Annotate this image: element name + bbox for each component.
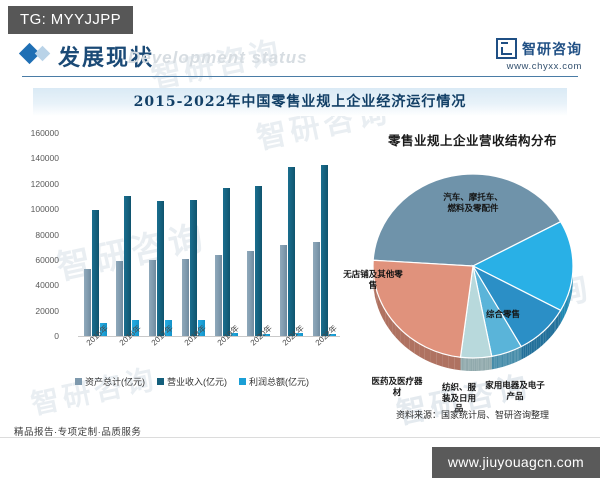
pie-slice-label: 综合零售 [472, 309, 534, 320]
pie-slice-side [515, 349, 516, 363]
bar-group [84, 133, 107, 336]
y-tick-label: 60000 [1, 255, 59, 265]
pie-slice-side [503, 353, 504, 366]
pie-slice-side [512, 350, 513, 363]
pie-slice-label: 医药及医疗器材 [368, 376, 426, 397]
pie-slice-side [484, 357, 485, 370]
brand-name: 智研咨询 [522, 39, 582, 59]
pie-slice-side [474, 358, 475, 371]
pie-slice-side [497, 355, 498, 368]
overlay-tag: TG: MYYJJPP [8, 6, 133, 34]
pie-slice-side [477, 358, 478, 371]
pie-slice-side [472, 358, 473, 371]
legend-item: 资产总计(亿元) [75, 375, 145, 388]
bar-group [182, 133, 205, 336]
pie-chart: 零售业规上企业营收结构分布 汽车、摩托车、燃料及零配件综合零售家用电器及电子产品… [345, 130, 600, 405]
pie-chart-title: 零售业规上企业营收结构分布 [345, 130, 600, 149]
pie-slice-side [525, 343, 527, 357]
pie-slice-side [523, 344, 525, 358]
pie-slice-side [493, 356, 494, 369]
bar-group [313, 133, 336, 336]
pie-slice-side [464, 358, 465, 371]
brand-url: www.chyxx.com [496, 61, 582, 72]
source-note: 资料来源：国家统计局、智研咨询整理 [345, 408, 600, 421]
pie-slice-side [442, 353, 448, 368]
pie-slice-side [518, 348, 519, 362]
page-header: 发展现状 Development status 智研咨询 www.chyxx.c… [0, 36, 600, 80]
bar [190, 200, 197, 336]
bar [149, 260, 156, 336]
pie-slice-side [520, 347, 521, 361]
pie-slice-side [468, 358, 469, 371]
pie-slice-side [485, 357, 486, 370]
pie-slice-side [539, 334, 541, 348]
legend-label: 营业收入(亿元) [167, 375, 227, 388]
pie-slice-side [489, 357, 490, 370]
pie-slice-label: 无店铺及其他零售 [342, 269, 404, 290]
bar [124, 196, 131, 336]
pie-slice-side [529, 341, 531, 355]
pie-slice-side [509, 351, 510, 364]
bar [215, 255, 222, 336]
pie-slice-side [448, 355, 454, 369]
pie-slice-side [508, 352, 509, 365]
pie-slice-side [506, 353, 507, 366]
pie-slice-side [519, 347, 520, 361]
bar-group [280, 133, 303, 336]
bar-group [247, 133, 270, 336]
pie-slice-side [475, 358, 476, 371]
bar [157, 201, 164, 336]
y-tick-label: 160000 [1, 128, 59, 138]
brand-logo: 智研咨询 www.chyxx.com [496, 38, 582, 72]
legend-swatch [157, 378, 164, 385]
pie-slice-side [470, 358, 471, 371]
bar [84, 269, 91, 336]
pie-slice-side [527, 342, 529, 356]
bar [321, 165, 328, 336]
pie-slice-side [537, 335, 539, 349]
bar [280, 245, 287, 336]
pie-slice-side [463, 358, 464, 371]
pie-slice-side [494, 356, 495, 369]
pie-slice-side [492, 356, 493, 369]
pie-slice-side [502, 354, 503, 367]
y-tick-label: 20000 [1, 306, 59, 316]
pie-slice-side [533, 338, 535, 352]
diamond-secondary-icon [35, 46, 51, 62]
pie-slice-side [501, 354, 502, 367]
bar [247, 251, 254, 336]
brand-mark-icon [496, 38, 517, 59]
pie-slice-side [462, 357, 463, 370]
legend-item: 利润总额(亿元) [239, 375, 309, 388]
pie-slice-side [466, 358, 467, 371]
bar-group [215, 133, 238, 336]
pie-slice-side [481, 358, 482, 371]
footer-url-badge: www.jiuyouagcn.com [432, 447, 600, 478]
pie-slice-side [535, 337, 537, 351]
y-tick-label: 100000 [1, 204, 59, 214]
pie-slice-side [476, 358, 477, 371]
pie-slice-side [504, 353, 505, 366]
bar-chart-title: 2015-2022年中国零售业规上企业经济运行情况 [33, 88, 567, 116]
bar-chart: 0200004000060000800001000001200001400001… [18, 125, 343, 410]
y-tick-label: 40000 [1, 280, 59, 290]
legend-swatch [239, 378, 246, 385]
pie-slice-label: 汽车、摩托车、燃料及零配件 [441, 192, 505, 213]
pie-slice-side [517, 348, 518, 362]
pie-slice-side [507, 352, 508, 365]
y-tick-label: 140000 [1, 153, 59, 163]
legend-item: 营业收入(亿元) [157, 375, 227, 388]
y-tick-label: 0 [1, 331, 59, 341]
pie-slice-side [471, 358, 472, 371]
pie-slice-side [483, 357, 484, 370]
bar-group [149, 133, 172, 336]
pie-slice-side [454, 356, 460, 370]
bar-plot-area [78, 133, 340, 336]
pie-slice-side [490, 356, 491, 369]
footer-tagline: 精品报告·专项定制·品质服务 [14, 424, 141, 438]
header-divider [22, 76, 578, 77]
bar [223, 188, 230, 336]
bar-chart-legend: 资产总计(亿元)营业收入(亿元)利润总额(亿元) [32, 375, 352, 388]
pie-slice-label: 家用电器及电子产品 [482, 380, 548, 401]
bar [92, 210, 99, 336]
pie-slice-side [498, 355, 499, 368]
legend-swatch [75, 378, 82, 385]
pie-slice-side [521, 346, 523, 360]
pie-slice-side [480, 358, 481, 371]
y-tick-label: 120000 [1, 179, 59, 189]
bar [116, 261, 123, 336]
bar [288, 167, 295, 336]
pie-slice-side [479, 358, 480, 371]
bar [313, 242, 320, 336]
legend-label: 利润总额(亿元) [249, 375, 309, 388]
pie-slice-side [496, 355, 497, 368]
pie-slice-side [460, 357, 461, 370]
pie-slice-side [531, 340, 533, 354]
pie-slice-side [513, 350, 514, 363]
pie-slice-side [487, 357, 488, 370]
bar [255, 186, 262, 336]
pie-slice-side [511, 351, 512, 364]
legend-label: 资产总计(亿元) [85, 375, 145, 388]
chart-title-band: 2015-2022年中国零售业规上企业经济运行情况 [33, 88, 567, 116]
bar-group [116, 133, 139, 336]
pie-slice-side [488, 357, 489, 370]
pie-slice-side [467, 358, 468, 371]
pie-slice-side [499, 354, 500, 367]
section-subtitle-ghost: Development status [128, 48, 308, 68]
pie-slice-side [540, 333, 542, 347]
pie-slice-side [514, 349, 515, 363]
y-tick-label: 80000 [1, 230, 59, 240]
bar [182, 259, 189, 336]
